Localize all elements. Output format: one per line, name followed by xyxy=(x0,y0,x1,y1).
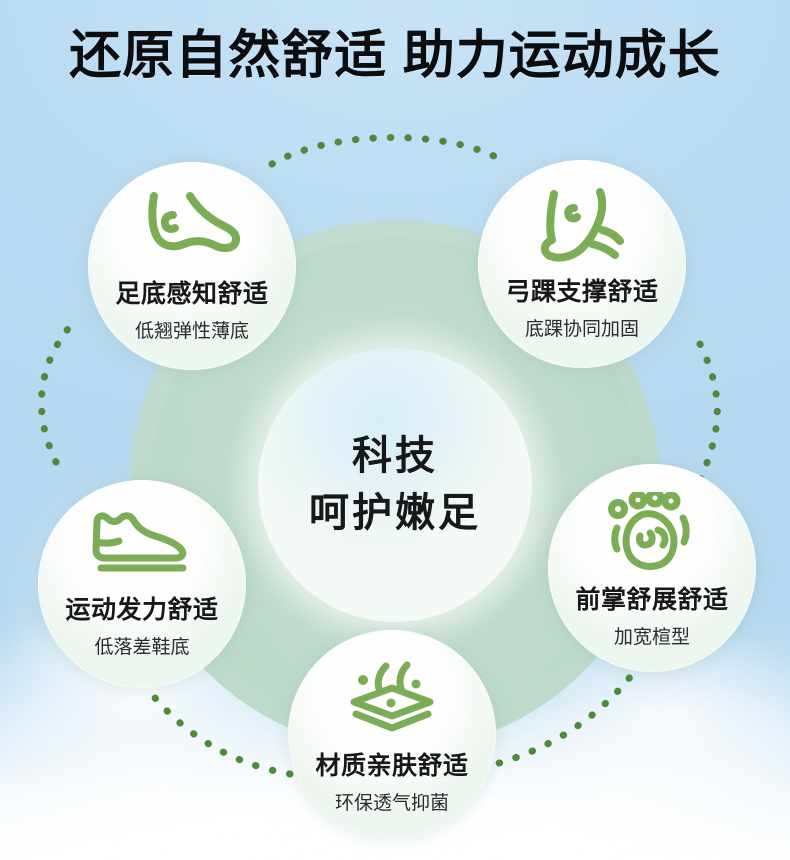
feature-title: 足底感知舒适 xyxy=(115,274,268,310)
center-line-2: 呵护嫩足 xyxy=(309,485,481,542)
feature-circle-power[interactable]: 运动发力舒适 低落差鞋底 xyxy=(38,480,246,688)
feature-subtitle: 加宽楦型 xyxy=(614,622,690,649)
feature-title: 材质亲肤舒适 xyxy=(315,746,468,782)
feature-subtitle: 低落差鞋底 xyxy=(94,632,189,659)
center-label: 科技 呵护嫩足 xyxy=(309,428,481,542)
ankle-arch-support-icon xyxy=(530,186,634,264)
feature-circle-arch[interactable]: 弓踝支撑舒适 底踝协同加固 xyxy=(478,160,686,368)
feature-title: 运动发力舒适 xyxy=(65,590,218,626)
feature-subtitle: 底踝协同加固 xyxy=(525,314,639,341)
footprint-toes-icon xyxy=(604,492,700,572)
feature-title: 弓踝支撑舒适 xyxy=(505,272,658,308)
breathable-layers-icon xyxy=(342,658,442,736)
feature-circle-sole[interactable]: 足底感知舒适 低翘弹性薄底 xyxy=(88,162,296,370)
feature-subtitle: 环保透气抑菌 xyxy=(335,788,449,815)
radial-diagram: 科技 呵护嫩足 足底感知舒适 低翘弹性薄底 xyxy=(0,112,790,852)
center-line-1: 科技 xyxy=(309,428,481,485)
feature-title: 前掌舒展舒适 xyxy=(575,580,728,616)
center-circle: 科技 呵护嫩足 xyxy=(258,348,532,622)
feature-circle-material[interactable]: 材质亲肤舒适 环保透气抑菌 xyxy=(288,630,496,838)
page-title: 还原自然舒适 助力运动成长 xyxy=(0,30,790,82)
sneaker-icon xyxy=(87,510,197,576)
feature-subtitle: 低翘弹性薄底 xyxy=(135,316,249,343)
foot-sole-icon xyxy=(140,190,244,262)
feature-circle-forefoot[interactable]: 前掌舒展舒适 加宽楦型 xyxy=(548,464,756,672)
